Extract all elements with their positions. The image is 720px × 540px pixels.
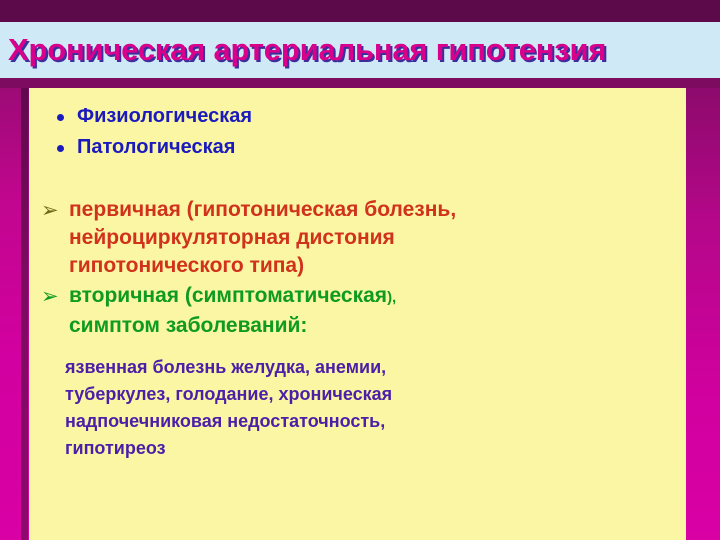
list-item: Патологическая (39, 133, 676, 162)
sub-title-band (0, 78, 720, 88)
list-item-label: Физиологическая (77, 105, 252, 127)
arrow-item-line: гипотонического типа) (69, 252, 676, 280)
arrow-items-block: ➢ первичная (гипотоническая болезнь, ней… (39, 196, 676, 340)
arrowhead-icon: ➢ (41, 282, 59, 310)
classification-list: Физиологическая Патологическая (39, 102, 676, 162)
disease-examples-line: надпочечниковая недостаточность, (65, 408, 676, 435)
left-accent-stripe-outer (0, 88, 21, 540)
right-accent-stripe (686, 88, 720, 540)
content-panel-inner: Физиологическая Патологическая ➢ первичн… (39, 102, 676, 540)
arrow-item-line-suffix: ), (387, 289, 396, 306)
arrow-item-line: первичная (гипотоническая болезнь, (69, 196, 676, 224)
page-title: Хроническая артериальная гипотензия (8, 26, 720, 74)
list-item-label: Патологическая (77, 136, 235, 158)
disease-examples-block: язвенная болезнь желудка, анемии, туберк… (65, 354, 676, 462)
disease-examples-line: гипотиреоз (65, 435, 676, 462)
arrow-item-line: вторичная (симптоматическая), (69, 282, 676, 312)
disease-examples-line: язвенная болезнь желудка, анемии, (65, 354, 676, 381)
arrow-item-line: симптом заболеваний: (69, 312, 676, 340)
slide: Хроническая артериальная гипотензия Физи… (0, 0, 720, 540)
content-panel: Физиологическая Патологическая ➢ первичн… (29, 88, 686, 540)
arrow-item-line-main: вторичная (симптоматическая (69, 284, 387, 307)
arrowhead-icon: ➢ (41, 196, 59, 224)
top-decorative-band (0, 0, 720, 22)
disease-examples-line: туберкулез, голодание, хроническая (65, 381, 676, 408)
arrow-item-line: нейроциркуляторная дистония (69, 224, 676, 252)
arrow-item-secondary: ➢ вторичная (симптоматическая), симптом … (39, 282, 676, 340)
left-accent-stripe-inner (21, 88, 28, 540)
arrow-item-primary: ➢ первичная (гипотоническая болезнь, ней… (39, 196, 676, 280)
list-item: Физиологическая (39, 102, 676, 131)
